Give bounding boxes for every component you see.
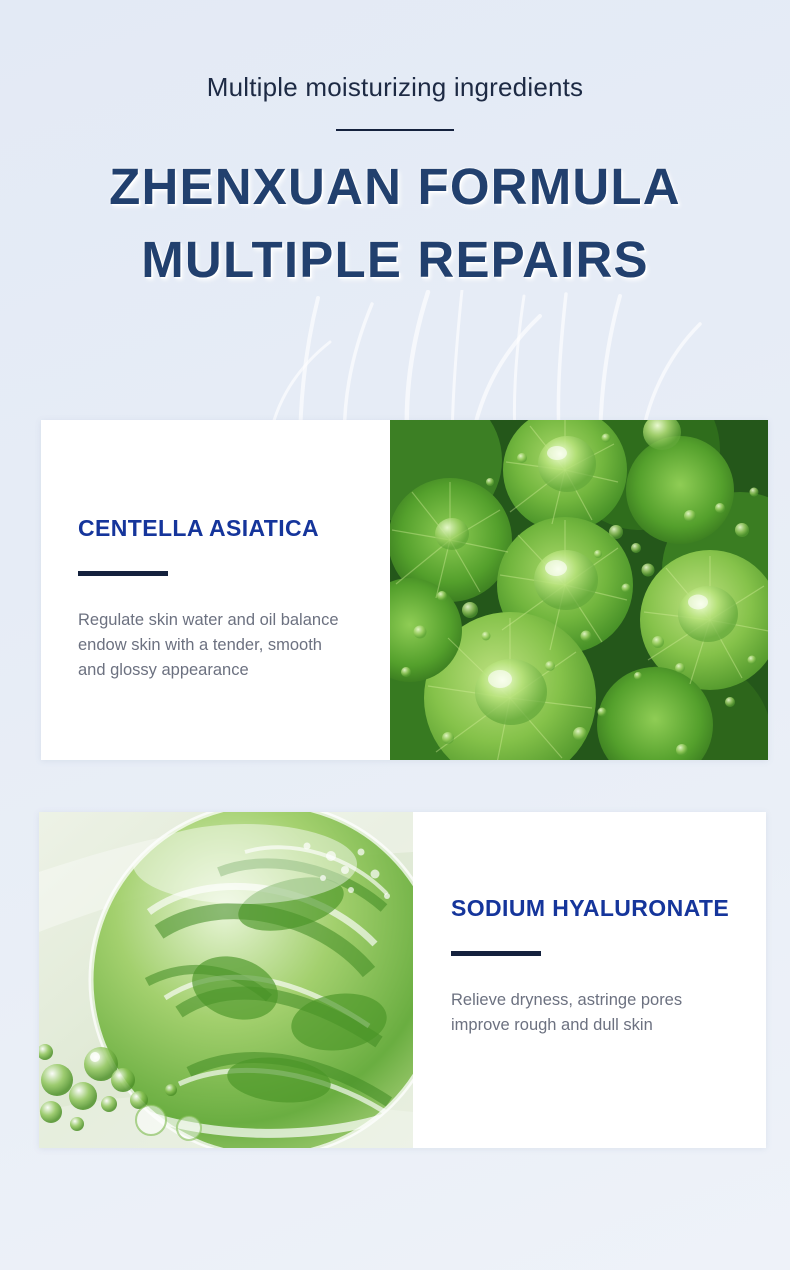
- card-body-line: and glossy appearance: [78, 658, 390, 683]
- centella-leaves-photo: [390, 420, 768, 760]
- card-body-line: improve rough and dull skin: [451, 1013, 766, 1038]
- page-header: Multiple moisturizing ingredients ZHENXU…: [0, 0, 790, 296]
- page-title: ZHENXUAN FORMULA MULTIPLE REPAIRS: [0, 151, 790, 296]
- card-body-text: Regulate skin water and oil balance endo…: [78, 608, 390, 683]
- gel-sphere-photo: [39, 812, 413, 1148]
- card-body-line: Regulate skin water and oil balance: [78, 608, 390, 633]
- card-body-line: endow skin with a tender, smooth: [78, 633, 390, 658]
- eyebrow-divider: [336, 129, 454, 131]
- card-text-panel: SODIUM HYALURONATE Relieve dryness, astr…: [413, 812, 766, 1148]
- ingredient-card-centella: CENTELLA ASIATICA Regulate skin water an…: [41, 420, 768, 760]
- card-text-panel: CENTELLA ASIATICA Regulate skin water an…: [41, 420, 390, 760]
- card-body-line: Relieve dryness, astringe pores: [451, 988, 766, 1013]
- card-title-divider: [451, 951, 541, 956]
- card-title: CENTELLA ASIATICA: [78, 516, 390, 541]
- card-body-text: Relieve dryness, astringe pores improve …: [451, 988, 766, 1038]
- eyebrow-subtitle: Multiple moisturizing ingredients: [0, 72, 790, 103]
- headline-line-1: ZHENXUAN FORMULA: [0, 151, 790, 223]
- card-title-divider: [78, 571, 168, 576]
- ingredient-card-sodium-hyaluronate: SODIUM HYALURONATE Relieve dryness, astr…: [39, 812, 766, 1148]
- card-title: SODIUM HYALURONATE: [451, 896, 766, 921]
- headline-line-2: MULTIPLE REPAIRS: [0, 224, 790, 296]
